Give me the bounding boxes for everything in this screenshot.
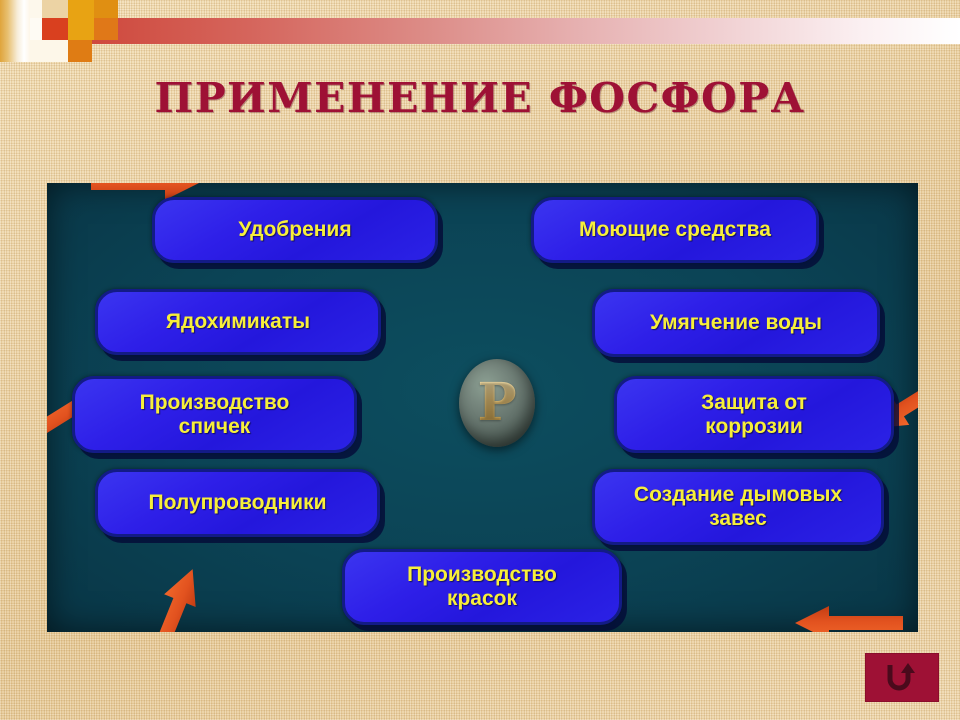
- arrow-to-fertilizers: [125, 563, 208, 632]
- node-matches-label: Производство спичек: [140, 391, 290, 438]
- mosaic-square-red: [42, 18, 68, 40]
- node-corrosion-protection[interactable]: Защита от коррозии: [614, 376, 894, 453]
- mosaic-square-white-2: [30, 18, 42, 40]
- diagram-panel: Удобрения Ядохимикаты Производство спиче…: [47, 183, 918, 632]
- node-pesticides[interactable]: Ядохимикаты: [95, 289, 381, 355]
- mosaic-square-tan: [42, 0, 68, 18]
- node-pesticides-label: Ядохимикаты: [166, 310, 310, 334]
- mosaic-square-orange-1: [94, 18, 118, 40]
- node-matches[interactable]: Производство спичек: [72, 376, 357, 453]
- node-paints[interactable]: Производство красок: [342, 549, 622, 625]
- phosphorus-sphere: P: [459, 359, 535, 447]
- mosaic-square-orange-2: [68, 40, 92, 62]
- return-button[interactable]: [865, 653, 939, 702]
- node-corrosion-protection-label: Защита от коррозии: [701, 391, 807, 438]
- node-water-softening[interactable]: Умягчение воды: [592, 289, 880, 357]
- corner-mosaic-decoration: [0, 0, 150, 62]
- mosaic-square-amber-2: [68, 18, 94, 40]
- mosaic-square-gold: [94, 0, 118, 18]
- node-water-softening-label: Умягчение воды: [650, 311, 822, 335]
- node-fertilizers[interactable]: Удобрения: [152, 197, 438, 263]
- phosphorus-symbol: P: [477, 377, 516, 429]
- slide-root: ПРИМЕНЕНИЕ ФОСФОРА: [0, 0, 960, 720]
- node-semiconductors[interactable]: Полупроводники: [95, 469, 380, 537]
- u-turn-arrow-icon: [885, 662, 919, 693]
- mosaic-square-amber-1: [68, 0, 94, 18]
- node-fertilizers-label: Удобрения: [238, 218, 351, 242]
- node-smoke-screens[interactable]: Создание дымовых завес: [592, 469, 884, 545]
- node-smoke-screens-label: Создание дымовых завес: [634, 483, 842, 530]
- node-semiconductors-label: Полупроводники: [148, 491, 326, 515]
- node-paints-label: Производство красок: [407, 563, 557, 610]
- arrow-to-matches: [795, 606, 903, 632]
- page-title: ПРИМЕНЕНИЕ ФОСФОРА: [0, 74, 960, 122]
- mosaic-square-white-1: [30, 0, 42, 18]
- node-detergents-label: Моющие средства: [579, 218, 771, 242]
- mosaic-fade-bar: [0, 0, 30, 62]
- node-detergents[interactable]: Моющие средства: [531, 197, 819, 263]
- mosaic-square-white-3: [30, 40, 68, 62]
